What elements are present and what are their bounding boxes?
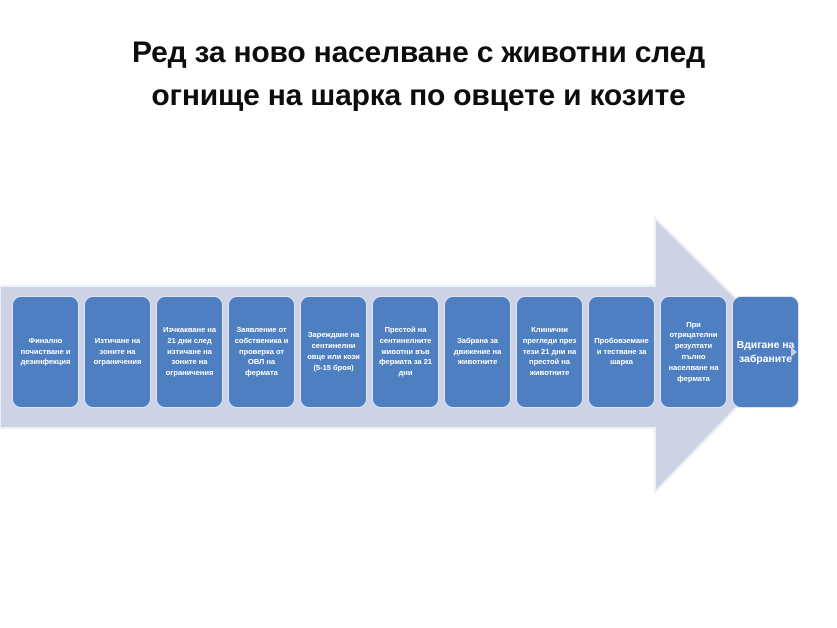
process-step-10[interactable]: При отрицателни резултати пълно населван… xyxy=(660,296,727,408)
process-step-label: Клинични прегледи през тези 21 дни на пр… xyxy=(520,325,579,379)
process-step-5[interactable]: Зареждане на сентинелни овце или кози (5… xyxy=(300,296,367,408)
page-title-line-2: огнище на шарка по овцете и козите xyxy=(60,75,777,118)
process-step-1[interactable]: Финално почистване и дезинфекция xyxy=(12,296,79,408)
process-step-label: Вдигане на забраните xyxy=(736,338,795,366)
process-step-label: При отрицателни резултати пълно населван… xyxy=(664,320,723,385)
arrow-tip-marker-icon xyxy=(790,345,798,359)
process-step-7[interactable]: Забрана за движение на животните xyxy=(444,296,511,408)
page-title: Ред за ново населване с животни след огн… xyxy=(60,32,777,117)
process-step-2[interactable]: Изтичане на зоните на ограничения xyxy=(84,296,151,408)
process-step-label: Финално почистване и дезинфекция xyxy=(16,336,75,368)
process-step-11[interactable]: Вдигане на забраните xyxy=(732,296,799,408)
page-title-line-1: Ред за ново населване с животни след xyxy=(60,32,777,75)
process-step-label: Пробовземане и тестване за шарка xyxy=(592,336,651,368)
process-step-6[interactable]: Престой на сентинелните животни във ферм… xyxy=(372,296,439,408)
process-step-label: Изтичане на зоните на ограничения xyxy=(88,336,147,368)
process-step-8[interactable]: Клинични прегледи през тези 21 дни на пр… xyxy=(516,296,583,408)
process-step-label: Забрана за движение на животните xyxy=(448,336,507,368)
process-step-label: Изчкакване на 21 дни след изтичане на зо… xyxy=(160,325,219,379)
process-step-4[interactable]: Заявление от собственика и проверка от О… xyxy=(228,296,295,408)
process-step-label: Заявление от собственика и проверка от О… xyxy=(232,325,291,379)
process-step-label: Зареждане на сентинелни овце или кози (5… xyxy=(304,330,363,373)
process-steps-row: Финално почистване и дезинфекция Изтичан… xyxy=(12,296,802,408)
process-step-9[interactable]: Пробовземане и тестване за шарка xyxy=(588,296,655,408)
process-step-3[interactable]: Изчкакване на 21 дни след изтичане на зо… xyxy=(156,296,223,408)
process-step-label: Престой на сентинелните животни във ферм… xyxy=(376,325,435,379)
